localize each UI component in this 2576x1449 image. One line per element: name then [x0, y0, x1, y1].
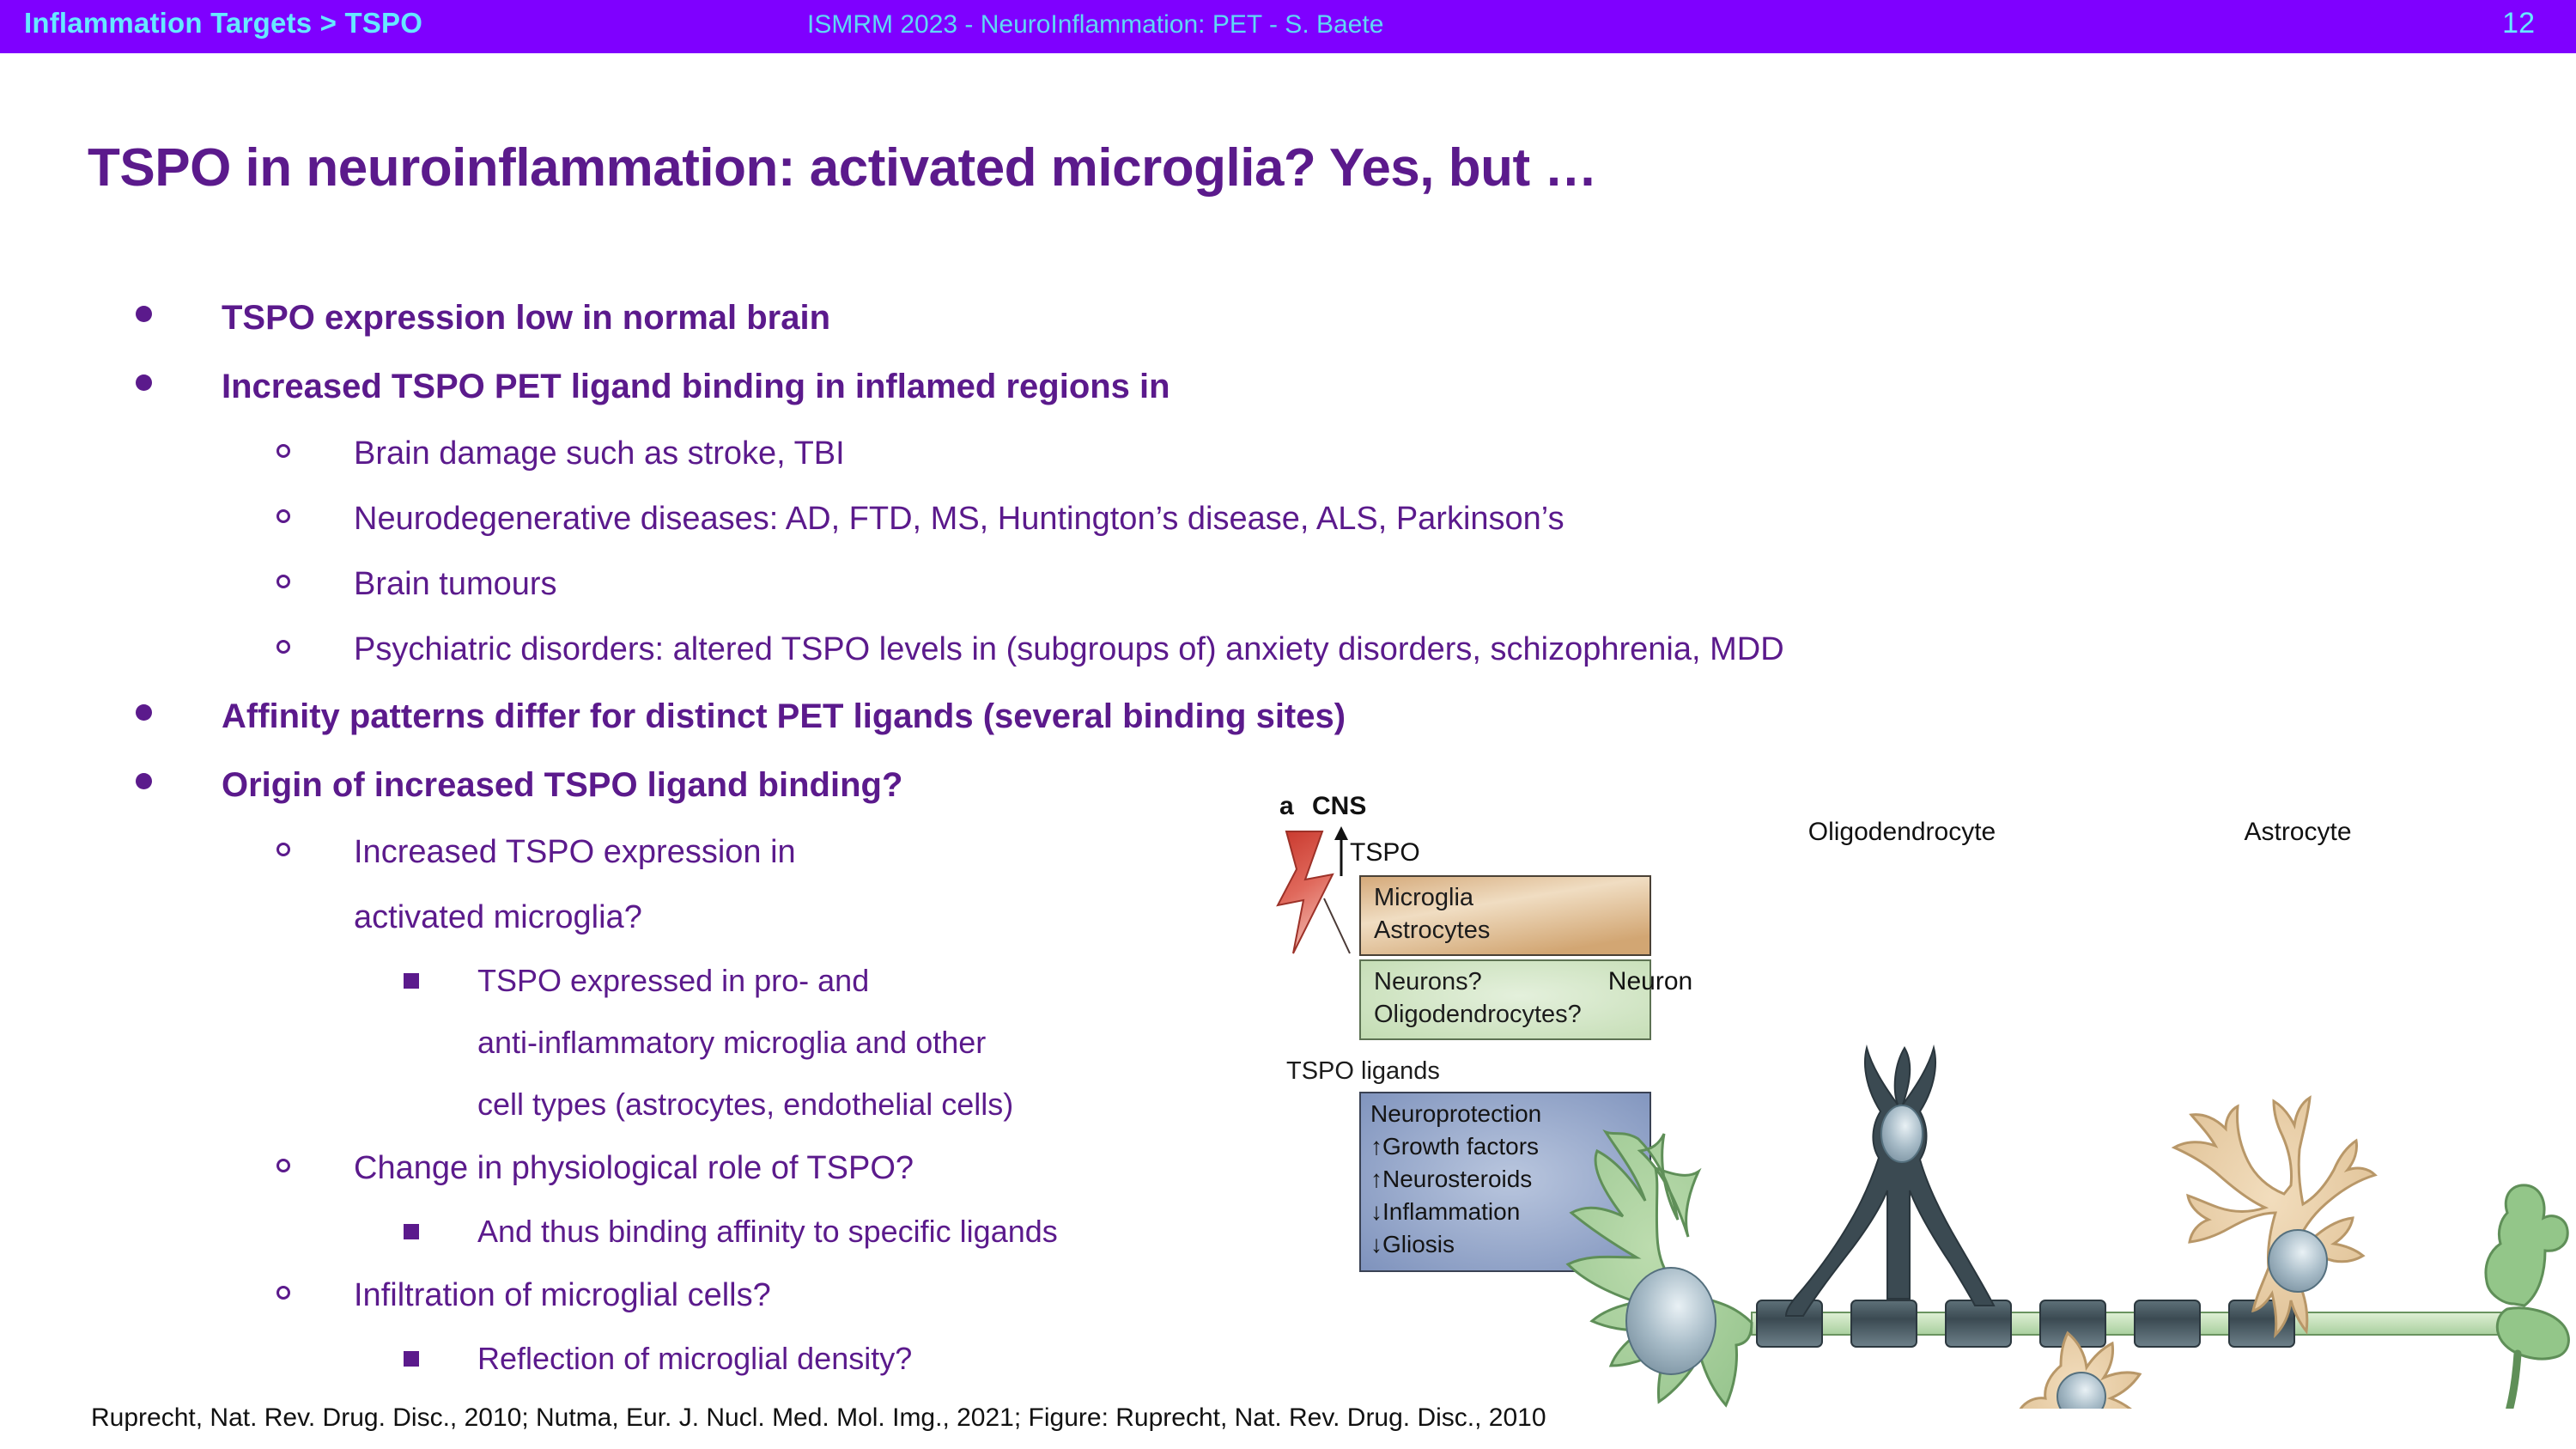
bullet-text: TSPO expressed in pro- and: [477, 950, 869, 1012]
box-upregulated-line-1: Microglia: [1374, 884, 1474, 911]
bullet-text: Affinity patterns differ for distinct PE…: [222, 682, 1346, 751]
lightning-bolt-icon: [1278, 831, 1333, 953]
bullet-text: TSPO expression low in normal brain: [222, 283, 830, 352]
box-questioned-line-1: Neurons?: [1374, 968, 1482, 995]
bullet-marker-circle: [276, 640, 290, 654]
page-title: TSPO in neuroinflammation: activated mic…: [88, 137, 1597, 198]
ligand-effect-2: ↑Growth factors: [1370, 1133, 1539, 1160]
bullet-text: Reflection of microglial density?: [477, 1328, 912, 1390]
bullet-marker-circle: [276, 843, 290, 856]
breadcrumb: Inflammation Targets > TSPO: [24, 7, 422, 40]
bullet-text: Change in physiological role of TSPO?: [354, 1135, 914, 1201]
oligodendrocyte-cell: [1786, 1048, 1994, 1316]
neuron-nucleus: [1626, 1268, 1716, 1374]
bullet-marker-circle: [276, 1286, 290, 1300]
bullet-marker-circle: [276, 509, 290, 523]
bullet-row: Brain damage such as stroke, TBI: [0, 421, 1803, 486]
bullet-marker-disc: [136, 773, 152, 789]
bullet-marker-disc: [136, 306, 152, 322]
bullet-marker-disc: [136, 374, 152, 391]
astrocyte-cell: [2174, 1098, 2375, 1335]
oligodendrocyte-nucleus: [1881, 1105, 1923, 1162]
bolt-tail: [1324, 898, 1350, 953]
bullet-row: Psychiatric disorders: altered TSPO leve…: [0, 617, 1803, 682]
ligand-effect-1: Neuroprotection: [1370, 1100, 1541, 1127]
ligand-effect-5: ↓Gliosis: [1370, 1231, 1455, 1257]
axon-terminal-bulb: [2497, 1308, 2568, 1359]
bullet-text: Psychiatric disorders: altered TSPO leve…: [354, 617, 1784, 682]
cell-illustration: Neuron Oligodendrocyte Astrocyte Microgl…: [1568, 818, 2568, 1409]
bullet-text: activated microglia?: [354, 885, 642, 950]
ligand-effect-4: ↓Inflammation: [1370, 1198, 1520, 1225]
bullet-marker-disc: [136, 704, 152, 721]
ligands-caption: TSPO ligands: [1286, 1057, 1440, 1085]
bullet-marker-square: [404, 973, 419, 989]
bullet-marker-circle: [276, 575, 290, 588]
bullet-text: Increased TSPO PET ligand binding in inf…: [222, 352, 1170, 421]
bullet-text: Neurodegenerative diseases: AD, FTD, MS,…: [354, 486, 1564, 551]
axon-terminal-branch: [2507, 1354, 2518, 1409]
label-neuron: Neuron: [1608, 967, 1692, 995]
bullet-text: Infiltration of microglial cells?: [354, 1263, 771, 1328]
bullet-row: Brain tumours: [0, 551, 1803, 617]
box-upregulated-line-2: Astrocytes: [1374, 916, 1490, 944]
bullet-marker-circle: [276, 444, 290, 458]
header-bar: Inflammation Targets > TSPO ISMRM 2023 -…: [0, 0, 2576, 53]
bullet-text: anti-inflammatory microglia and other: [477, 1012, 986, 1074]
figure-panel-title: CNS: [1312, 792, 1366, 820]
slide-number: 12: [2502, 7, 2535, 40]
bullet-text: And thus binding affinity to specific li…: [477, 1201, 1058, 1263]
bullet-row: TSPO expression low in normal brain: [0, 283, 1803, 352]
bullet-text: Increased TSPO expression in: [354, 819, 796, 885]
ligand-effect-3: ↑Neurosteroids: [1370, 1166, 1532, 1192]
bullet-text: cell types (astrocytes, endothelial cell…: [477, 1074, 1013, 1135]
bullet-text: Origin of increased TSPO ligand binding?: [222, 751, 902, 819]
bullet-row: Neurodegenerative diseases: AD, FTD, MS,…: [0, 486, 1803, 551]
bullet-text: Brain tumours: [354, 551, 557, 617]
cns-tspo-figure: a CNS TSPO Microglia Astrocytes Neurons?…: [1271, 790, 2576, 1409]
tspo-up-arrow-icon: [1334, 826, 1348, 876]
bullet-row: Increased TSPO PET ligand binding in inf…: [0, 352, 1803, 421]
bullet-marker-square: [404, 1224, 419, 1239]
axon-terminal-upper: [2486, 1185, 2567, 1306]
presentation-subtitle: ISMRM 2023 - NeuroInflammation: PET - S.…: [807, 10, 1383, 40]
label-oligodendrocyte: Oligodendrocyte: [1808, 818, 1996, 846]
bullet-marker-circle: [276, 1159, 290, 1172]
bullet-row: Affinity patterns differ for distinct PE…: [0, 682, 1803, 751]
label-astrocyte: Astrocyte: [2244, 818, 2351, 846]
bullet-marker-square: [404, 1351, 419, 1367]
box-questioned-line-2: Oligodendrocytes?: [1374, 1001, 1582, 1028]
astrocyte-nucleus: [2269, 1230, 2327, 1292]
figure-panel-letter: a: [1279, 792, 1294, 820]
tspo-arrow-label: TSPO: [1350, 838, 1420, 867]
bullet-text: Brain damage such as stroke, TBI: [354, 421, 845, 486]
